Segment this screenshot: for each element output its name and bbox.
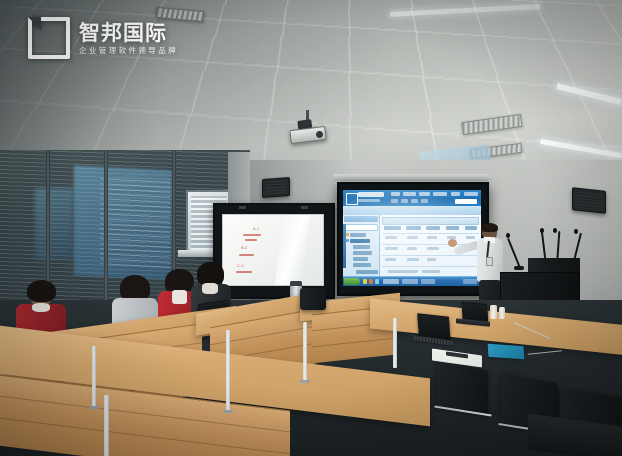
projected-application [343,190,481,286]
app-submenu-item-2 [401,199,408,203]
whiteboard-ink-3 [239,254,254,256]
blue-folder [488,344,525,360]
whiteboard-surface: A-1 B-2 C-3 [222,214,324,286]
grid-cell-r4c2 [422,270,440,273]
grid-cell-r3c3 [427,258,436,261]
wall-speaker-right-icon [572,187,606,214]
taskbar-task-2 [402,279,418,284]
tree-item-5 [353,257,368,261]
watermark-logo: 智邦国际 企业管理软件领导品牌 [28,17,178,59]
sidebar-dropdown [345,224,378,231]
app-menu-item-1 [391,192,400,196]
tree-item-1 [350,233,366,237]
sidebar-header [344,216,378,222]
grid-cell-r3c2 [407,258,419,261]
app-menu-item-2 [403,192,416,196]
whiteboard-ink-4 [236,271,252,273]
meeting-room-photo: A-1 B-2 C-3 [0,0,622,456]
whiteboard-clip-right [301,206,308,209]
microphone-3-head-icon [553,228,557,233]
microphone-base-1 [514,266,524,270]
grid-header-3 [426,226,440,230]
tree-item-3 [353,245,370,249]
whiteboard-glare [273,214,311,286]
content-toolbar [382,217,479,225]
table-leg-foot-1 [89,406,99,409]
grid-header-2 [406,226,421,230]
whiteboard: A-1 B-2 C-3 [213,203,335,299]
taskbar-icon-1 [363,279,367,284]
grid-divider-1 [382,233,479,234]
app-submenu-item-4 [421,199,428,203]
app-sidebar [343,215,380,277]
tree-item-2-selected [350,239,370,243]
app-menu-item-4 [433,192,447,196]
microphone-base-2 [548,263,558,267]
watermark-subtitle: 企业管理软件领导品牌 [79,46,178,55]
whiteboard-note-3: C-3 [237,263,243,268]
wall-speaker-left-icon [262,177,290,198]
tree-folder-icon-2 [346,239,349,242]
table-leg-1 [92,346,96,408]
attendee-1-collar [32,303,50,312]
glass-reflection-lines [100,178,170,268]
microphone-2-head-icon [540,228,544,233]
whiteboard-note-2: B-2 [241,245,247,250]
presenter-hair [481,223,498,232]
watermark-text: 智邦国际 企业管理软件领导品牌 [79,22,178,55]
presenter-hand [448,239,457,247]
panel-seam-9 [0,417,290,455]
square-bracket-logo-icon [28,17,70,59]
grid-cell-r1c3 [427,236,437,239]
grid-header-1 [384,226,401,230]
chair-far-back [300,288,326,310]
tree-item-7 [356,270,378,274]
thermos-lid [290,281,302,286]
microphone-1-head-icon [506,233,510,238]
app-menu-item-5 [451,192,460,196]
taskbar-task-3 [421,279,435,284]
windows-taskbar [343,276,481,286]
tree-item-6 [353,263,371,267]
grid-cell-r3c1 [385,258,396,261]
whiteboard-ink-2 [245,239,257,241]
grid-cell-r2c1 [385,247,398,250]
start-button-icon [344,278,360,285]
table-leg-front [104,395,109,456]
watermark-title: 智邦国际 [79,22,178,44]
table-leg-3 [303,322,307,382]
water-bottle [490,305,497,319]
grid-header-4 [446,226,459,230]
grid-divider-3 [382,255,479,256]
taskbar-task-1 [383,279,399,284]
grid-cell-r1c2 [407,236,418,239]
attendee-4-collar [202,283,218,294]
whiteboard-note-1: A-1 [253,226,259,231]
app-logo-title [358,192,384,197]
projection-screen [337,182,489,296]
taskbar-icon-2 [369,279,373,284]
app-logo-icon [346,193,358,205]
table-leg-foot-2 [223,410,233,413]
taskbar-icon-3 [375,279,379,284]
glass-reflection-secondary [35,188,73,260]
grid-cell-r4c1 [388,270,418,273]
grid-divider-4 [382,266,479,267]
table-leg-2 [226,330,230,412]
tree-item-4 [353,251,372,255]
sidebar-collapse-rail [343,224,346,268]
app-logo-subtitle [358,199,380,202]
app-header-bar [343,190,481,206]
app-submenu-item-1 [391,199,398,203]
glass-mullion-2 [104,150,108,310]
app-submenu-item-3 [411,199,418,203]
screen-roller-case [333,174,489,181]
grid-cell-r1c1 [385,236,397,239]
presenter-badge [486,257,493,266]
table-leg-4 [393,318,397,368]
water-bottle-2 [499,307,505,319]
whiteboard-clip-left [239,206,246,209]
grid-cell-r2c3 [427,247,439,250]
table-leg-foot-3 [300,380,310,383]
app-search-input [455,199,477,204]
whiteboard-ink-1 [243,234,261,236]
microphone-4-head-icon [574,229,578,234]
attendee-3-scarf [172,290,187,304]
panel-seam-7 [312,338,396,348]
app-menu-item-6 [464,192,478,196]
grid-cell-r2c2 [407,247,417,250]
tree-folder-icon-1 [346,233,349,236]
attendee-1-hair [27,280,56,302]
app-menu-item-3 [419,192,430,196]
